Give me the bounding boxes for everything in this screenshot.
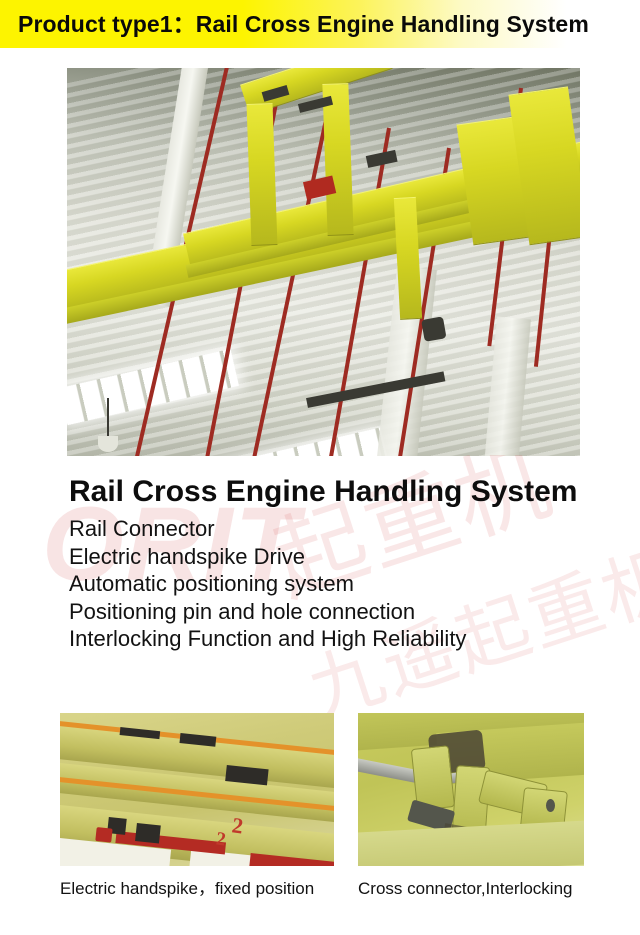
feature-item: Automatic positioning system [69, 570, 609, 598]
hanging-lamp [107, 398, 109, 438]
page-title: Rail Cross Engine Handling System [69, 473, 609, 511]
crane-trolley-leg [247, 103, 278, 246]
feature-item: Positioning pin and hole connection [69, 598, 609, 626]
header-title: Product type1：Rail Cross Engine Handling… [18, 9, 589, 39]
header-banner: Product type1：Rail Cross Engine Handling… [0, 0, 578, 48]
limit-switch [95, 827, 112, 843]
machinery-detail [421, 316, 446, 341]
feature-item: Electric handspike Drive [69, 543, 609, 571]
main-product-photo [67, 68, 580, 456]
product-description-block: Rail Cross Engine Handling System Rail C… [69, 473, 609, 653]
feature-item: Interlocking Function and High Reliabili… [69, 625, 609, 653]
caption-cross-connector: Cross connector,Interlocking [358, 878, 573, 900]
pin-hole [546, 799, 555, 812]
feature-item: Rail Connector [69, 515, 609, 543]
photo-electric-handspike: 2 2 [60, 713, 334, 866]
photo-cross-connector [358, 713, 584, 866]
machinery-detail [135, 823, 161, 843]
caption-electric-handspike: Electric handspike，fixed position [60, 878, 314, 900]
lamp-shade [98, 436, 118, 452]
